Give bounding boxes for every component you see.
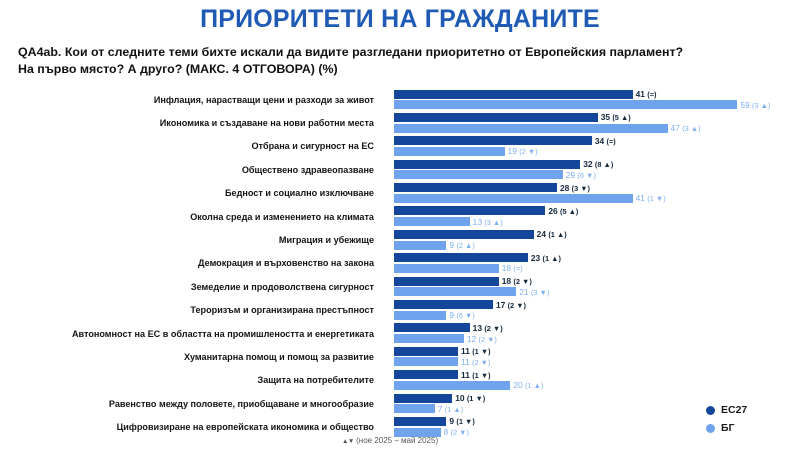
legend-label: БГ	[721, 422, 735, 434]
bar-group: 35 (5 ▲)47 (3 ▲)	[394, 111, 800, 134]
category-label: Демокрация и върховенство на закона	[0, 252, 382, 275]
bar-group: 41 (=)59 (3 ▲)	[394, 88, 800, 111]
bar-bg: 13 (3 ▲)	[394, 217, 800, 226]
chart-row: Бедност и социално изключване28 (3 ▼)41 …	[0, 182, 800, 205]
bar-group: 28 (3 ▼)41 (1 ▼)	[394, 182, 800, 205]
bar-rect-bg	[394, 124, 668, 133]
category-label: Икономика и създаване на нови работни ме…	[0, 111, 382, 134]
bar-value-eu: 13 (2 ▼)	[470, 324, 503, 332]
bar-value-bg: 9 (2 ▲)	[446, 241, 474, 249]
bar-value-eu: 24 (1 ▲)	[534, 230, 567, 238]
bar-rect-eu	[394, 394, 452, 403]
footnote-text: (ное 2025 – май 2025)	[356, 436, 438, 445]
chart-row: Автономност на ЕС в областта на промишле…	[0, 322, 800, 345]
bar-rect-eu	[394, 160, 580, 169]
bar-eu: 13 (2 ▼)	[394, 323, 800, 332]
category-label: Отбрана и сигурност на ЕС	[0, 135, 382, 158]
bar-rect-bg	[394, 217, 470, 226]
bar-value-eu: 23 (1 ▲)	[528, 254, 561, 262]
bar-rect-eu	[394, 206, 545, 215]
bar-value-eu: 11 (1 ▼)	[458, 347, 491, 355]
category-label: Миграция и убежище	[0, 228, 382, 251]
legend: ЕС27БГ	[706, 402, 792, 438]
bar-bg: 9 (2 ▲)	[394, 241, 800, 250]
bar-rect-bg	[394, 241, 446, 250]
bar-eu: 11 (1 ▼)	[394, 347, 800, 356]
bar-rect-bg	[394, 194, 633, 203]
bar-rect-eu	[394, 277, 499, 286]
bar-eu: 35 (5 ▲)	[394, 113, 800, 122]
bar-bg: 21 (3 ▼)	[394, 287, 800, 296]
bar-value-bg: 9 (6 ▼)	[446, 311, 474, 319]
category-label: Околна среда и изменението на климата	[0, 205, 382, 228]
chart-row: Миграция и убежище24 (1 ▲)9 (2 ▲)	[0, 228, 800, 251]
bar-eu: 18 (2 ▼)	[394, 277, 800, 286]
chart-row: Отбрана и сигурност на ЕС34 (=)19 (2 ▼)	[0, 135, 800, 158]
chart-row: Околна среда и изменението на климата26 …	[0, 205, 800, 228]
legend-item-eu[interactable]: ЕС27	[706, 402, 792, 418]
bar-rect-bg	[394, 100, 737, 109]
legend-dot-icon	[706, 424, 715, 433]
bar-group: 17 (2 ▼)9 (6 ▼)	[394, 299, 800, 322]
bar-bg: 29 (6 ▼)	[394, 170, 800, 179]
category-label: Инфлация, нарастващи цени и разходи за ж…	[0, 88, 382, 111]
category-label: Обществено здравеопазване	[0, 158, 382, 181]
question-subtitle: QA4ab. Кои от следните теми бихте искали…	[18, 44, 698, 77]
bar-rect-bg	[394, 147, 505, 156]
bar-value-eu: 11 (1 ▼)	[458, 370, 491, 378]
bar-value-eu: 28 (3 ▼)	[557, 183, 590, 191]
citizens-priorities-chart: ПРИОРИТЕТИ НА ГРАЖДАНИТЕ QA4ab. Кои от с…	[0, 0, 800, 462]
category-label: Цифровизиране на европейската икономика …	[0, 415, 382, 438]
bar-bg: 20 (1 ▲)	[394, 381, 800, 390]
bar-value-bg: 12 (2 ▼)	[464, 334, 497, 342]
category-label: Автономност на ЕС в областта на промишле…	[0, 322, 382, 345]
bar-rect-eu	[394, 253, 528, 262]
bar-value-bg: 29 (6 ▼)	[563, 171, 596, 179]
bar-rect-eu	[394, 90, 633, 99]
bar-rect-bg	[394, 381, 510, 390]
bar-value-bg: 47 (3 ▲)	[668, 124, 701, 132]
bar-rect-bg	[394, 170, 563, 179]
bar-rect-eu	[394, 183, 557, 192]
bar-eu: 17 (2 ▼)	[394, 300, 800, 309]
bar-bg: 18 (=)	[394, 264, 800, 273]
bar-value-eu: 18 (2 ▼)	[499, 277, 532, 285]
bar-bg: 11 (2 ▼)	[394, 357, 800, 366]
bar-group: 32 (8 ▲)29 (6 ▼)	[394, 158, 800, 181]
bar-value-bg: 19 (2 ▼)	[505, 147, 538, 155]
bar-eu: 41 (=)	[394, 90, 800, 99]
bar-rect-bg	[394, 404, 435, 413]
bar-rect-bg	[394, 287, 516, 296]
chart-row: Земеделие и продоволствена сигурност18 (…	[0, 275, 800, 298]
bar-value-eu: 41 (=)	[633, 90, 657, 98]
bar-rect-bg	[394, 264, 499, 273]
category-label: Хуманитарна помощ и помощ за развитие	[0, 345, 382, 368]
bar-value-eu: 17 (2 ▼)	[493, 300, 526, 308]
bar-value-bg: 7 (1 ▲)	[435, 405, 463, 413]
bar-group: 23 (1 ▲)18 (=)	[394, 252, 800, 275]
bar-group: 11 (1 ▼)20 (1 ▲)	[394, 369, 800, 392]
chart-row: Икономика и създаване на нови работни ме…	[0, 111, 800, 134]
bar-value-eu: 32 (8 ▲)	[580, 160, 613, 168]
plot-area: Инфлация, нарастващи цени и разходи за ж…	[0, 88, 800, 428]
bar-rect-eu	[394, 417, 446, 426]
chart-row: Обществено здравеопазване32 (8 ▲)29 (6 ▼…	[0, 158, 800, 181]
bar-eu: 26 (5 ▲)	[394, 206, 800, 215]
bar-value-eu: 26 (5 ▲)	[545, 207, 578, 215]
bar-bg: 9 (6 ▼)	[394, 311, 800, 320]
chart-row: Хуманитарна помощ и помощ за развитие11 …	[0, 345, 800, 368]
bar-value-eu: 10 (1 ▼)	[452, 394, 485, 402]
bar-eu: 32 (8 ▲)	[394, 160, 800, 169]
bar-value-eu: 34 (=)	[592, 137, 616, 145]
bar-group: 18 (2 ▼)21 (3 ▼)	[394, 275, 800, 298]
category-label: Бедност и социално изключване	[0, 182, 382, 205]
page-title: ПРИОРИТЕТИ НА ГРАЖДАНИТЕ	[0, 6, 800, 32]
legend-label: ЕС27	[721, 404, 747, 416]
bar-value-eu: 9 (1 ▼)	[446, 417, 474, 425]
chart-row: Защита на потребителите11 (1 ▼)20 (1 ▲)	[0, 369, 800, 392]
bar-bg: 59 (3 ▲)	[394, 100, 800, 109]
legend-item-bg[interactable]: БГ	[706, 420, 792, 436]
bar-value-bg: 41 (1 ▼)	[633, 194, 666, 202]
bar-value-bg: 20 (1 ▲)	[510, 381, 543, 389]
bar-rect-eu	[394, 370, 458, 379]
bar-group: 13 (2 ▼)12 (2 ▼)	[394, 322, 800, 345]
category-label: Защита на потребителите	[0, 369, 382, 392]
footnote: ▲▼ (ное 2025 – май 2025)	[342, 436, 438, 445]
bar-rect-eu	[394, 136, 592, 145]
bar-value-eu: 35 (5 ▲)	[598, 113, 631, 121]
bar-bg: 12 (2 ▼)	[394, 334, 800, 343]
chart-row: Демокрация и върховенство на закона23 (1…	[0, 252, 800, 275]
bar-value-bg: 21 (3 ▼)	[516, 288, 549, 296]
category-label: Земеделие и продоволствена сигурност	[0, 275, 382, 298]
bar-rect-bg	[394, 357, 458, 366]
category-label: Равенство между половете, приобщаване и …	[0, 392, 382, 415]
bar-rect-eu	[394, 230, 534, 239]
bar-group: 24 (1 ▲)9 (2 ▲)	[394, 228, 800, 251]
bar-group: 34 (=)19 (2 ▼)	[394, 135, 800, 158]
trend-arrows-icon: ▲▼	[342, 438, 354, 445]
bar-bg: 19 (2 ▼)	[394, 147, 800, 156]
bar-value-bg: 11 (2 ▼)	[458, 358, 490, 366]
bar-rect-eu	[394, 113, 598, 122]
bar-eu: 23 (1 ▲)	[394, 253, 800, 262]
bar-rect-eu	[394, 347, 458, 356]
bar-eu: 34 (=)	[394, 136, 800, 145]
bar-eu: 11 (1 ▼)	[394, 370, 800, 379]
bar-bg: 47 (3 ▲)	[394, 124, 800, 133]
bar-value-bg: 18 (=)	[499, 264, 523, 272]
bar-group: 26 (5 ▲)13 (3 ▲)	[394, 205, 800, 228]
chart-row: Инфлация, нарастващи цени и разходи за ж…	[0, 88, 800, 111]
bar-value-bg: 8 (2 ▼)	[441, 428, 469, 436]
bar-rect-bg	[394, 311, 446, 320]
category-label: Тероризъм и организирана престъпност	[0, 299, 382, 322]
chart-row: Равенство между половете, приобщаване и …	[0, 392, 800, 415]
legend-dot-icon	[706, 406, 715, 415]
bar-bg: 41 (1 ▼)	[394, 194, 800, 203]
bar-value-bg: 13 (3 ▲)	[470, 217, 503, 225]
chart-row: Тероризъм и организирана престъпност17 (…	[0, 299, 800, 322]
bar-eu: 24 (1 ▲)	[394, 230, 800, 239]
bar-eu: 28 (3 ▼)	[394, 183, 800, 192]
bar-rect-bg	[394, 334, 464, 343]
bar-value-bg: 59 (3 ▲)	[737, 100, 770, 108]
bar-rect-eu	[394, 323, 470, 332]
bar-group: 11 (1 ▼)11 (2 ▼)	[394, 345, 800, 368]
bar-rect-eu	[394, 300, 493, 309]
